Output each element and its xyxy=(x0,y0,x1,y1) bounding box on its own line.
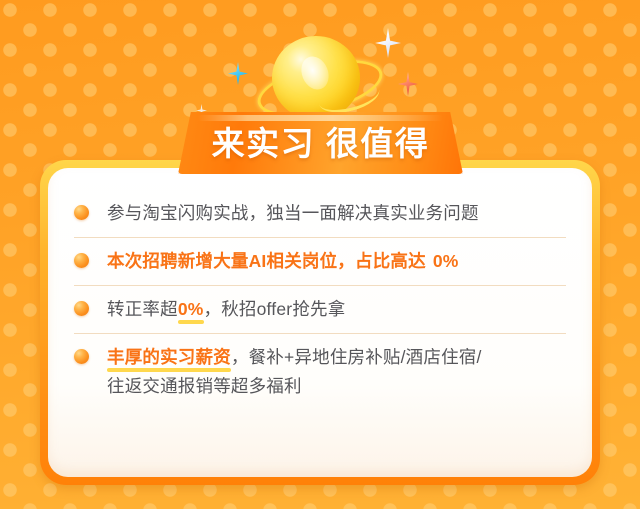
plain-text: ，秋招offer抢先拿 xyxy=(204,299,346,319)
benefit-row: 转正率超0%，秋招offer抢先拿 xyxy=(74,285,566,333)
highlighted-text: 0% xyxy=(178,295,204,324)
benefit-text: 本次招聘新增大量AI相关岗位，占比高达0% xyxy=(107,247,566,276)
plain-text: 参与淘宝闪购实战，独当一面解决真实业务问题 xyxy=(107,203,479,223)
planet-with-ring-icon xyxy=(258,28,376,124)
benefit-row: 参与淘宝闪购实战，独当一面解决真实业务问题 xyxy=(74,190,566,237)
planet-ring-front-icon xyxy=(315,75,382,118)
bullet-dot-icon xyxy=(74,253,89,268)
benefit-text: 参与淘宝闪购实战，独当一面解决真实业务问题 xyxy=(107,199,566,228)
content-card-frame: 参与淘宝闪购实战，独当一面解决真实业务问题本次招聘新增大量AI相关岗位，占比高达… xyxy=(40,160,600,485)
accent-text: 本次招聘新增大量AI相关岗位， xyxy=(107,251,355,271)
plain-text: 往返交通报销等超多福利 xyxy=(107,376,302,396)
plain-text: 转正率超 xyxy=(107,299,178,319)
banner-highlight xyxy=(198,115,443,121)
page-title: 来实习 很值得 xyxy=(212,127,430,160)
benefit-text: 丰厚的实习薪资，餐补+异地住房补贴/酒店住宿/往返交通报销等超多福利 xyxy=(107,343,566,401)
bullet-dot-icon xyxy=(74,301,89,316)
plain-text: ，餐补+异地住房补贴/酒店住宿/ xyxy=(231,347,482,367)
sparkle-star-icon xyxy=(228,62,248,85)
content-card: 参与淘宝闪购实战，独当一面解决真实业务问题本次招聘新增大量AI相关岗位，占比高达… xyxy=(48,168,592,477)
benefit-list: 参与淘宝闪购实战，独当一面解决真实业务问题本次招聘新增大量AI相关岗位，占比高达… xyxy=(48,168,592,428)
benefit-row: 丰厚的实习薪资，餐补+异地住房补贴/酒店住宿/往返交通报销等超多福利 xyxy=(74,333,566,410)
sparkle-star-icon xyxy=(398,72,418,96)
promo-poster: 参与淘宝闪购实战，独当一面解决真实业务问题本次招聘新增大量AI相关岗位，占比高达… xyxy=(0,0,640,509)
bullet-dot-icon xyxy=(74,349,89,364)
bullet-dot-icon xyxy=(74,205,89,220)
planet-highlight-icon xyxy=(297,52,334,93)
highlighted-text: 0% xyxy=(433,247,459,276)
planet-body-icon xyxy=(272,36,360,120)
sparkle-star-icon xyxy=(375,28,401,58)
highlighted-text: 占比高达 xyxy=(355,247,426,276)
benefit-text: 转正率超0%，秋招offer抢先拿 xyxy=(107,295,566,324)
benefit-row: 本次招聘新增大量AI相关岗位，占比高达0% xyxy=(74,237,566,285)
title-banner: 来实习 很值得 xyxy=(178,112,463,174)
highlighted-text: 丰厚的实习薪资 xyxy=(107,343,231,372)
